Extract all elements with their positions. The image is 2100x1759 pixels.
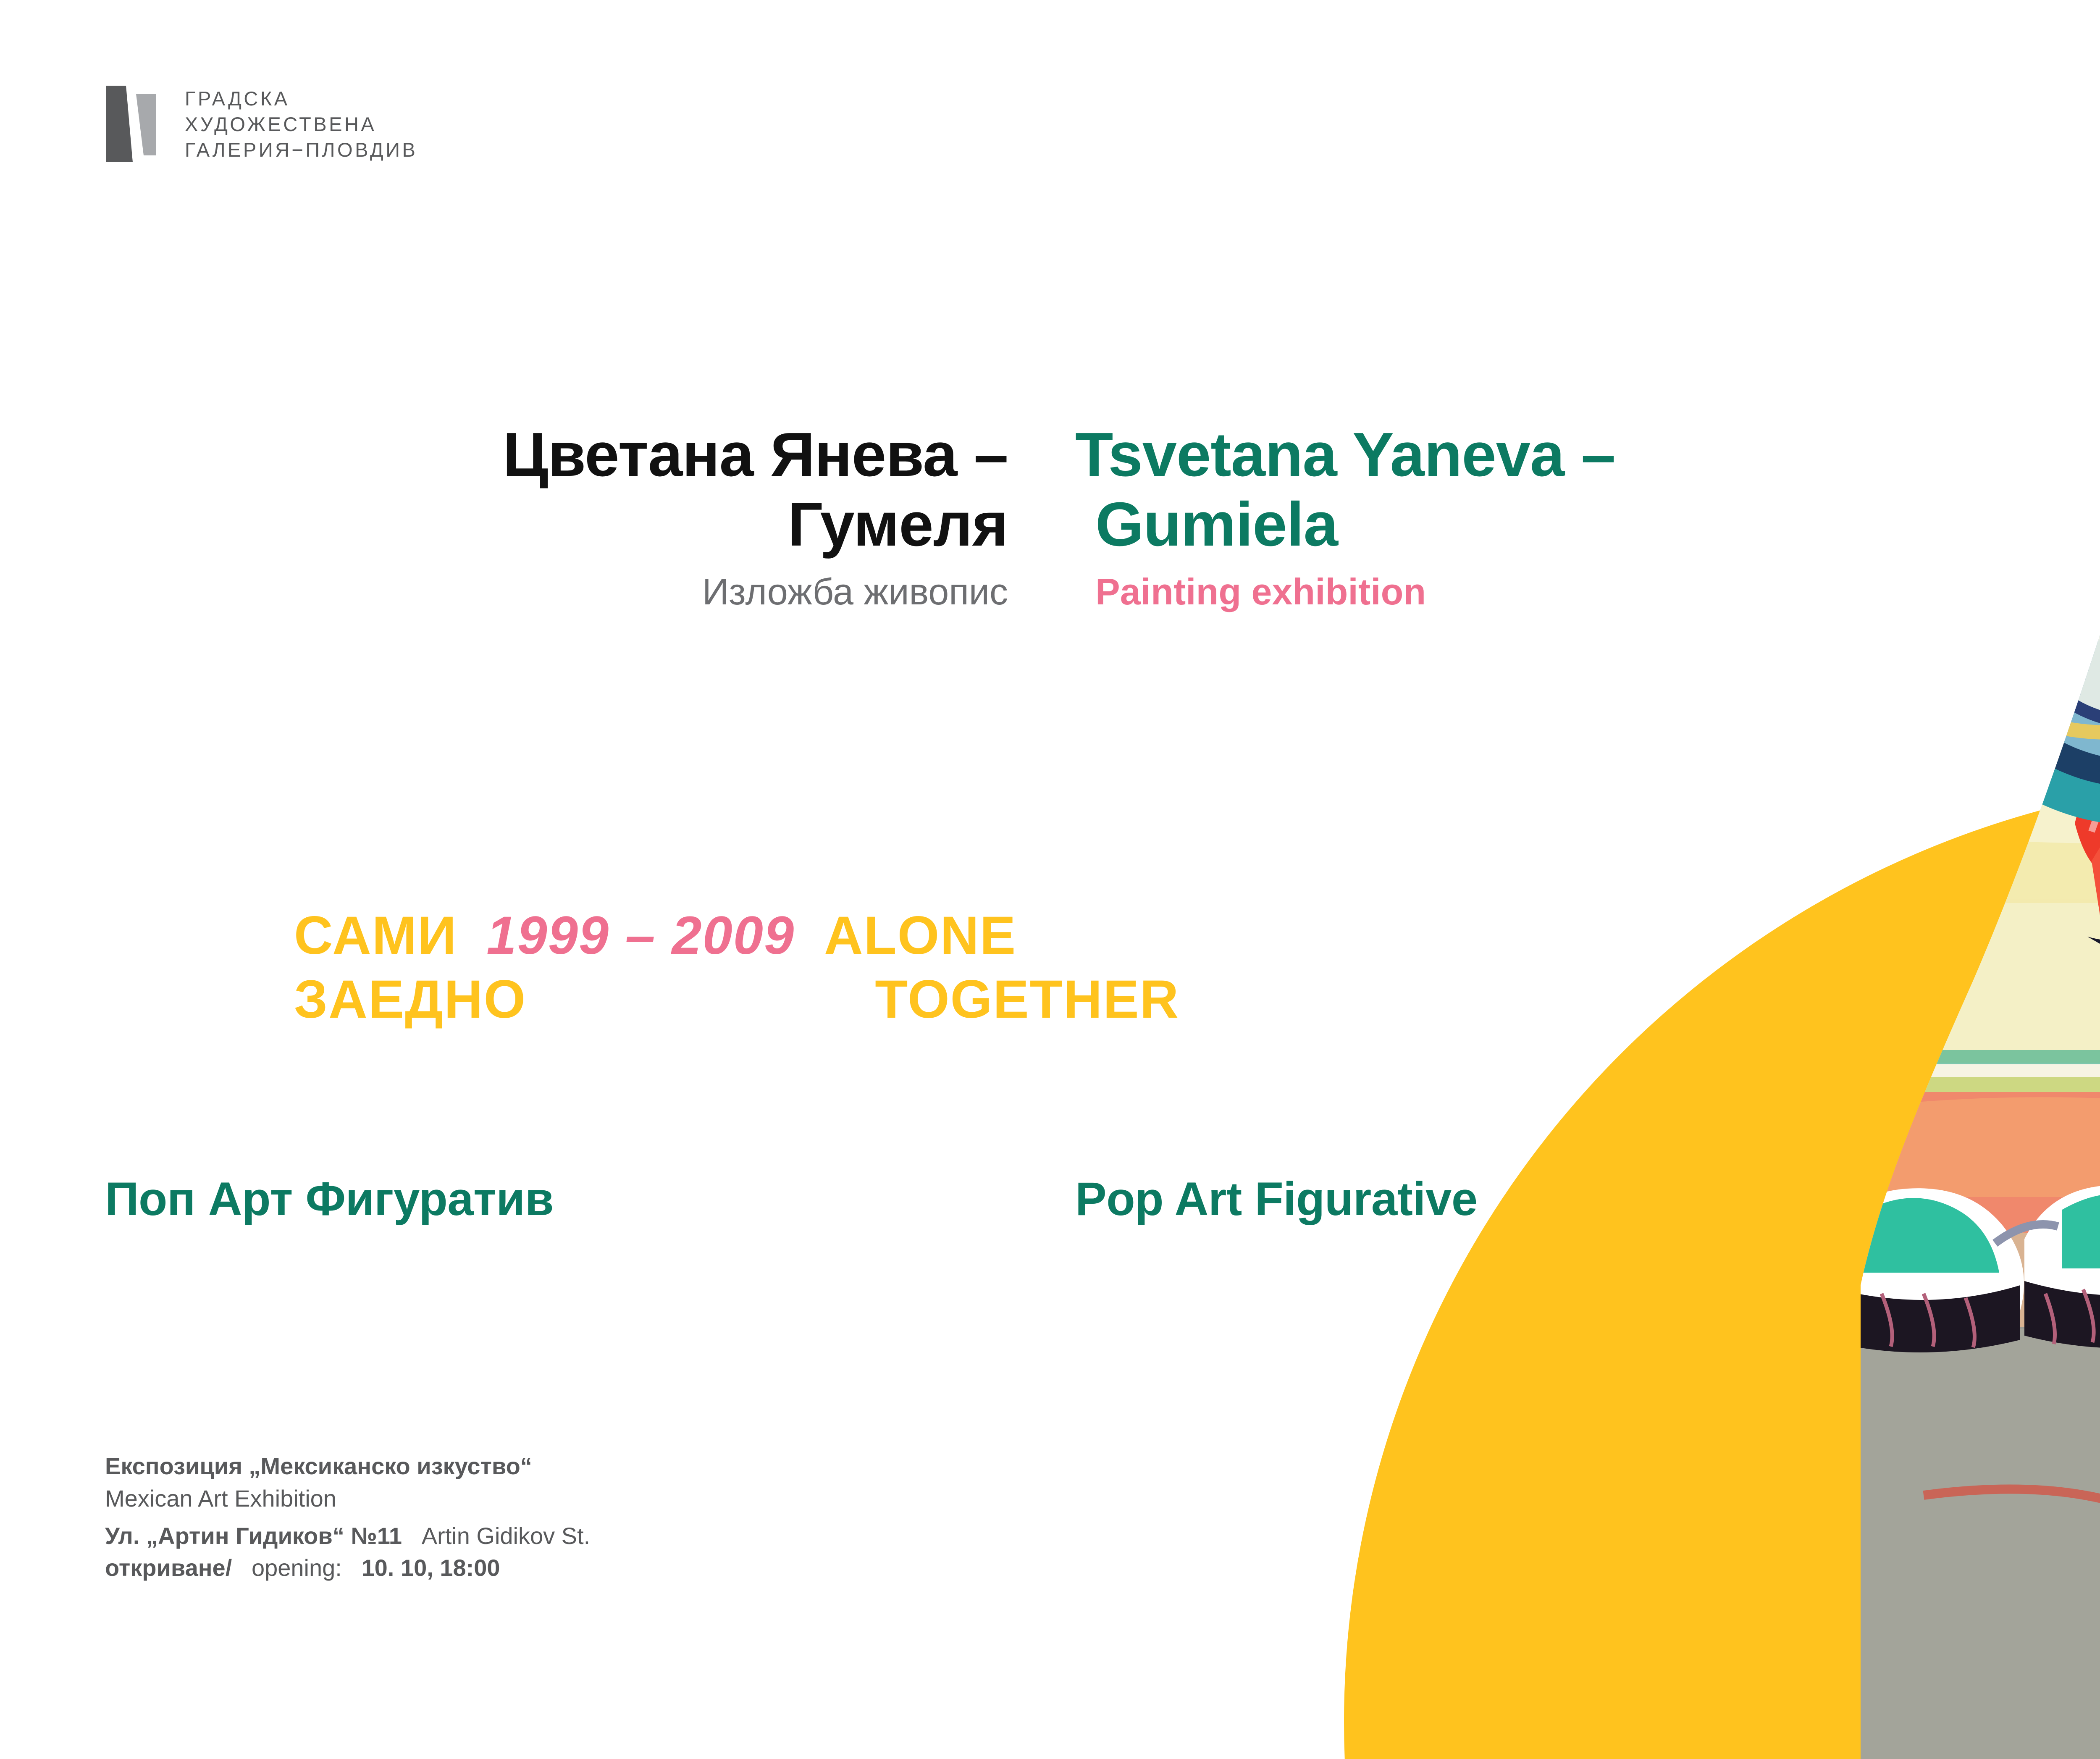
footer-opening: откриване/ opening: 10. 10, 18:00	[105, 1553, 590, 1583]
footer-address: Ул. „Артин Гидиков“ №11 Artin Gidikov St…	[105, 1521, 590, 1552]
footer-opening-en: opening:	[252, 1554, 342, 1581]
title-english: Tsvetana Yaneva – Gumiela Painting exhib…	[1075, 420, 1915, 613]
gallery-logo-mark	[105, 84, 169, 164]
footer-expo-en: Mexican Art Exhibition	[105, 1483, 590, 1514]
title-bg-line-2: Гумеля	[0, 490, 1008, 559]
alone-english: ALONE	[824, 903, 1016, 969]
footer-info: Експозиция „Мексиканско изкуство“ Mexica…	[105, 1451, 590, 1583]
popart-bulgarian: Поп Арт Фигуратив	[105, 1172, 554, 1226]
teal-shoes	[1798, 1185, 2100, 1352]
title-en-subtitle: Painting exhibition	[1075, 570, 1915, 613]
footer-address-bg: Ул. „Артин Гидиков“ №11	[105, 1523, 402, 1549]
alone-bulgarian: САМИ	[294, 903, 457, 969]
logo-line-2: ХУДОЖЕСТВЕНА	[185, 114, 417, 134]
artwork-image: Cvetana	[1798, 0, 2100, 1759]
title-bg-subtitle: Изложба живопис	[0, 570, 1008, 613]
footer-expo-bg: Експозиция „Мексиканско изкуство“	[105, 1451, 590, 1482]
gallery-logo-text: ГРАДСКА ХУДОЖЕСТВЕНА ГАЛЕРИЯ−ПЛОВДИВ	[185, 89, 417, 160]
title-bulgarian: Цветана Янева – Гумеля Изложба живопис	[0, 420, 1008, 613]
together-english: TOGETHER	[875, 967, 1179, 1032]
footer-opening-time: 10. 10, 18:00	[362, 1554, 500, 1581]
popart-english: Pop Art Figurative	[1075, 1172, 1478, 1226]
alone-together-band: САМИ 1999 – 2009 ALONE ЗАЕДНО TOGETHER	[0, 903, 1764, 1032]
together-bulgarian: ЗАЕДНО	[294, 967, 526, 1032]
gallery-logo[interactable]: ГРАДСКА ХУДОЖЕСТВЕНА ГАЛЕРИЯ−ПЛОВДИВ	[105, 84, 417, 164]
logo-line-3: ГАЛЕРИЯ−ПЛОВДИВ	[185, 140, 417, 160]
title-en-line-2: Gumiela	[1075, 490, 1915, 559]
footer-address-en: Artin Gidikov St.	[422, 1523, 590, 1549]
footer-opening-bg: откриване/	[105, 1554, 232, 1581]
title-bg-line-1: Цветана Янева –	[0, 420, 1008, 490]
title-en-line-1: Tsvetana Yaneva –	[1075, 420, 1915, 490]
logo-line-1: ГРАДСКА	[185, 89, 417, 108]
years-range: 1999 – 2009	[486, 903, 795, 969]
